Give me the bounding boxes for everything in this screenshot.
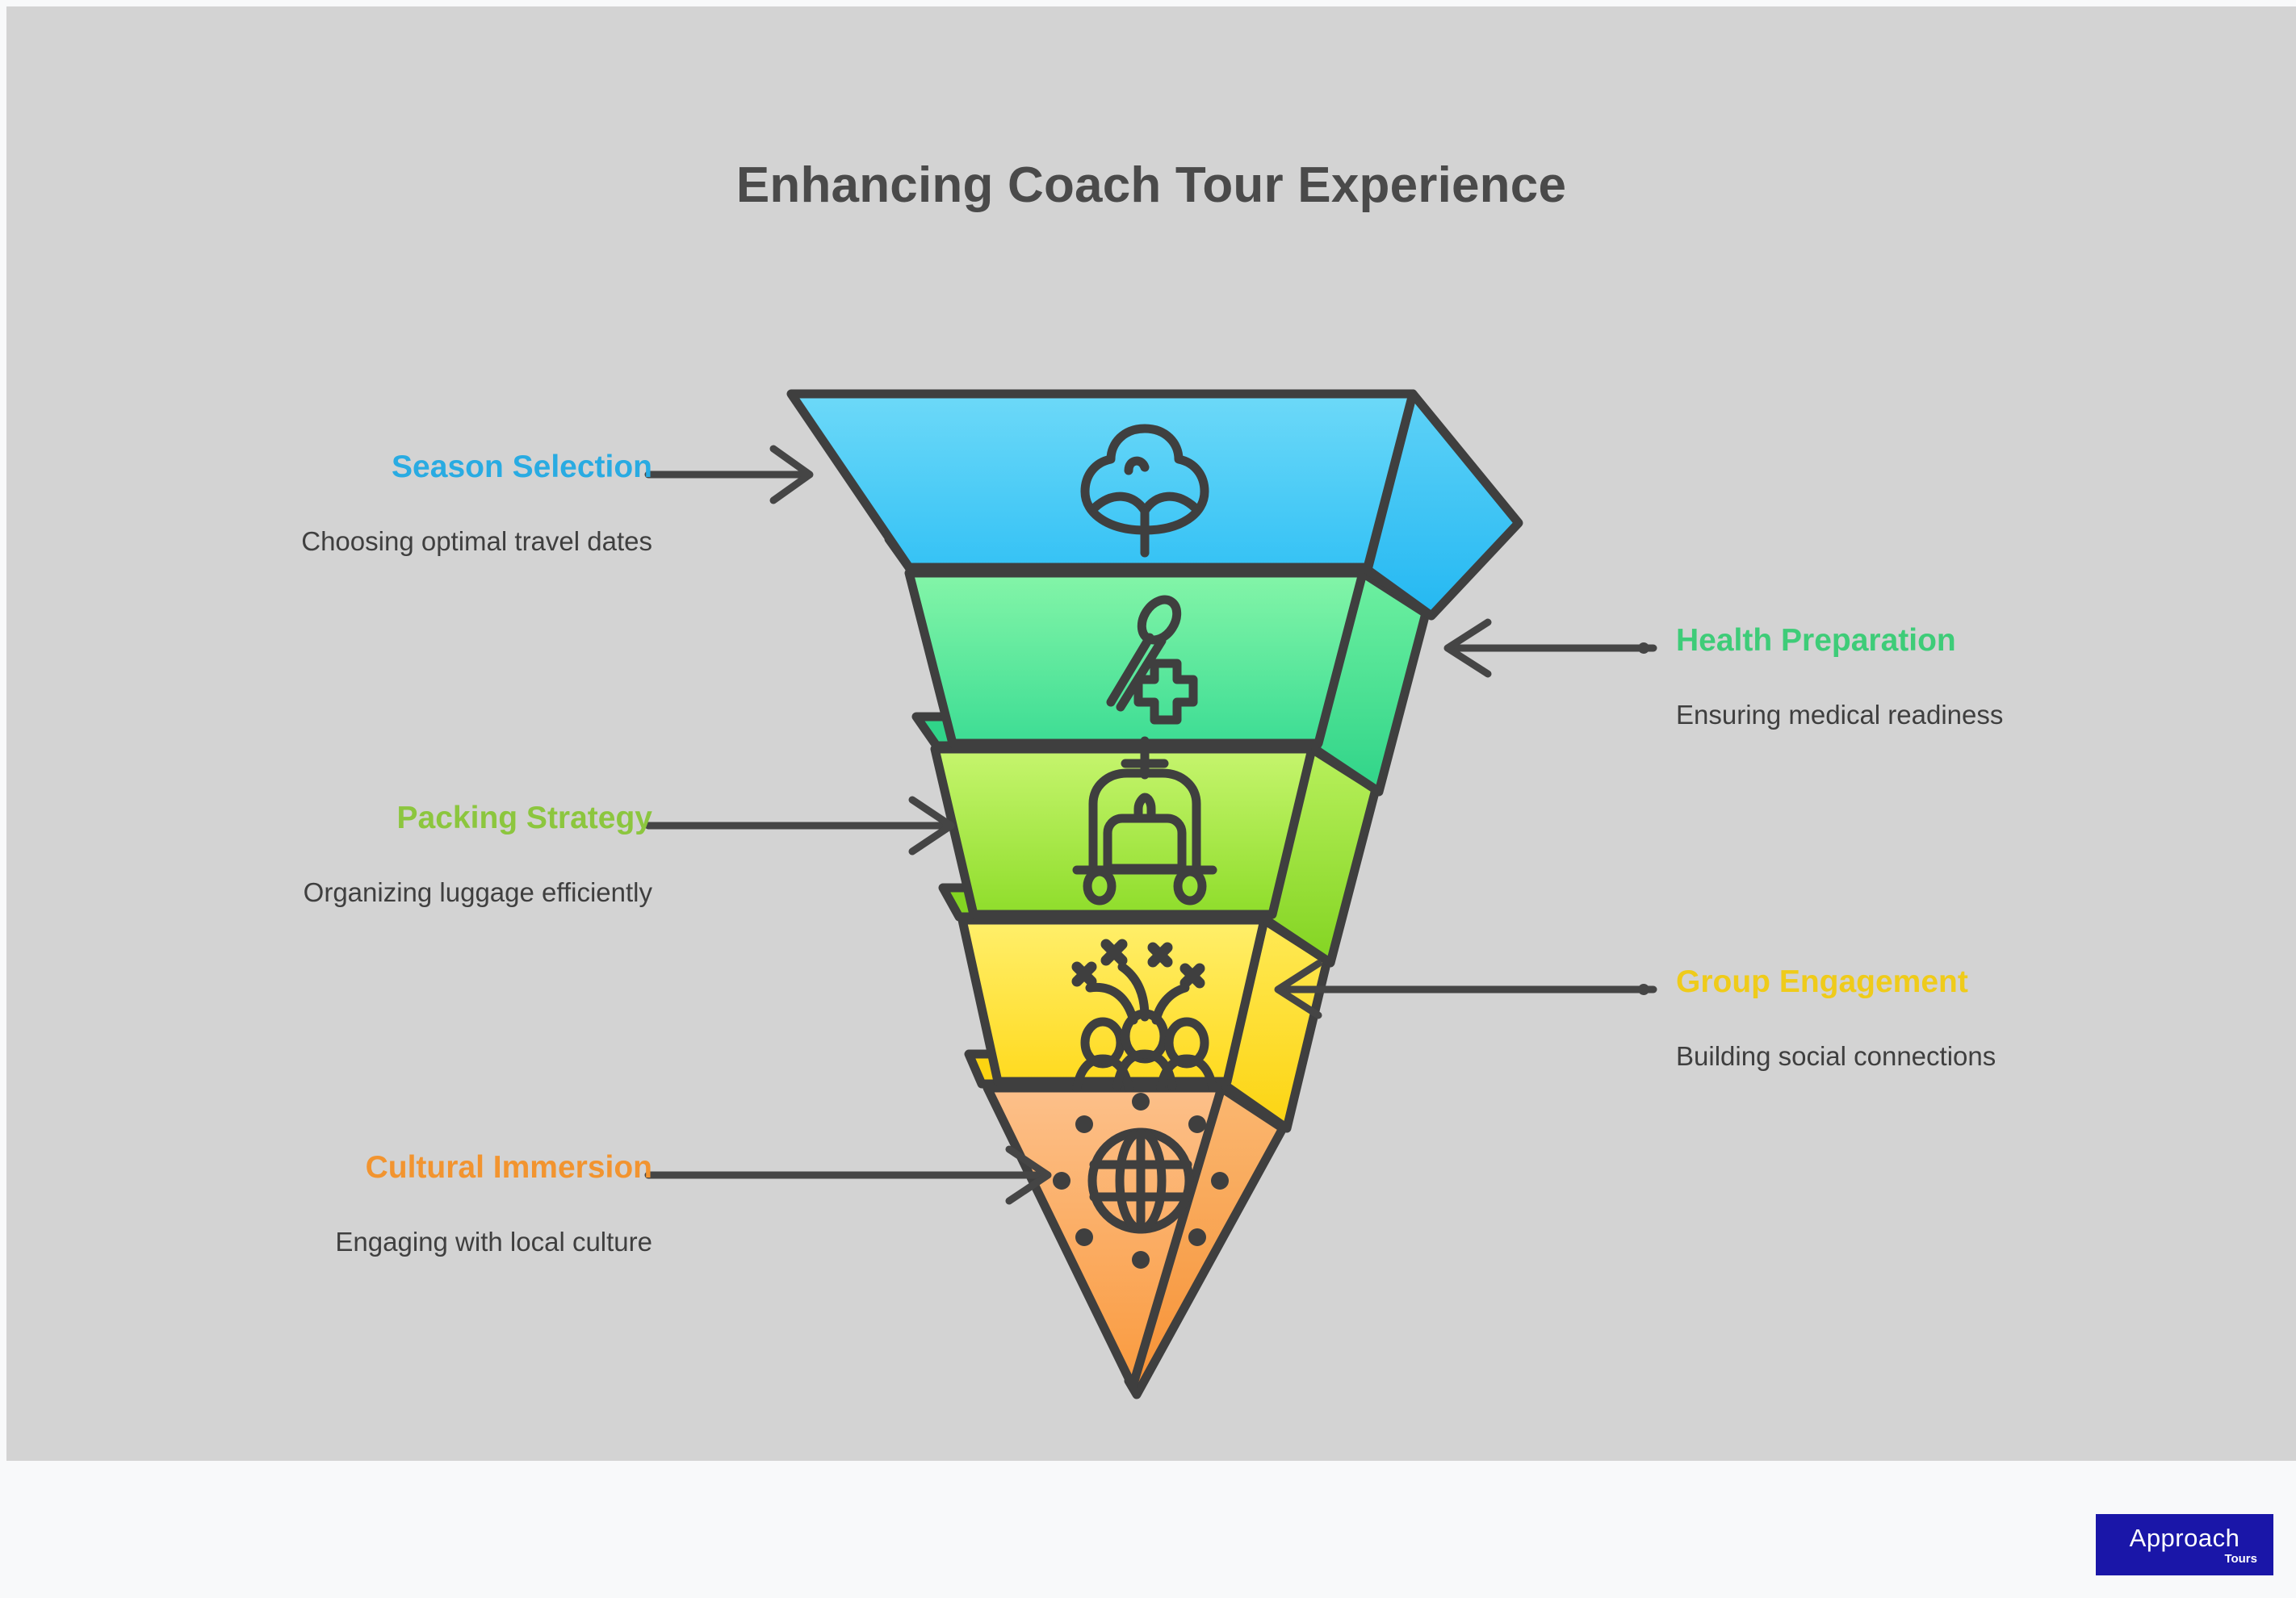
stage-desc-cultural-immersion: Engaging with local culture [87,1228,652,1257]
connector-cultural-immersion [648,1149,1048,1201]
stage-desc-season-selection: Choosing optimal travel dates [87,527,652,556]
stage-label-packing-strategy: Packing Strategy Organizing luggage effi… [87,801,652,907]
connector-packing-strategy [648,800,951,851]
logo-subtext: Tours [2224,1553,2257,1565]
stage-label-season-selection: Season Selection Choosing optimal travel… [87,450,652,556]
logo-wordmark: Approach [2130,1525,2240,1550]
stage-label-cultural-immersion: Cultural Immersion Engaging with local c… [87,1151,652,1257]
stage-desc-health-preparation: Ensuring medical readiness [1676,701,2257,730]
connector-health-preparation [1448,622,1653,674]
connector-season-selection [648,449,810,500]
stage-label-group-engagement: Group Engagement Building social connect… [1676,965,2257,1071]
approach-tours-logo[interactable]: Approach Tours [2096,1514,2273,1575]
stage-title-cultural-immersion: Cultural Immersion [87,1151,652,1186]
stage-title-packing-strategy: Packing Strategy [87,801,652,836]
page-root: Enhancing Coach Tour Experience [0,0,2296,1598]
stage-title-season-selection: Season Selection [87,450,652,485]
stage-title-group-engagement: Group Engagement [1676,965,2257,1000]
stage-desc-packing-strategy: Organizing luggage efficiently [87,878,652,907]
stage-label-health-preparation: Health Preparation Ensuring medical read… [1676,624,2257,730]
stage-title-health-preparation: Health Preparation [1676,624,2257,659]
diagram-canvas: Enhancing Coach Tour Experience [6,6,2296,1461]
funnel-segment-front-blue[interactable] [791,394,1413,567]
connector-group-engagement [1278,964,1653,1015]
stage-desc-group-engagement: Building social connections [1676,1042,2257,1071]
